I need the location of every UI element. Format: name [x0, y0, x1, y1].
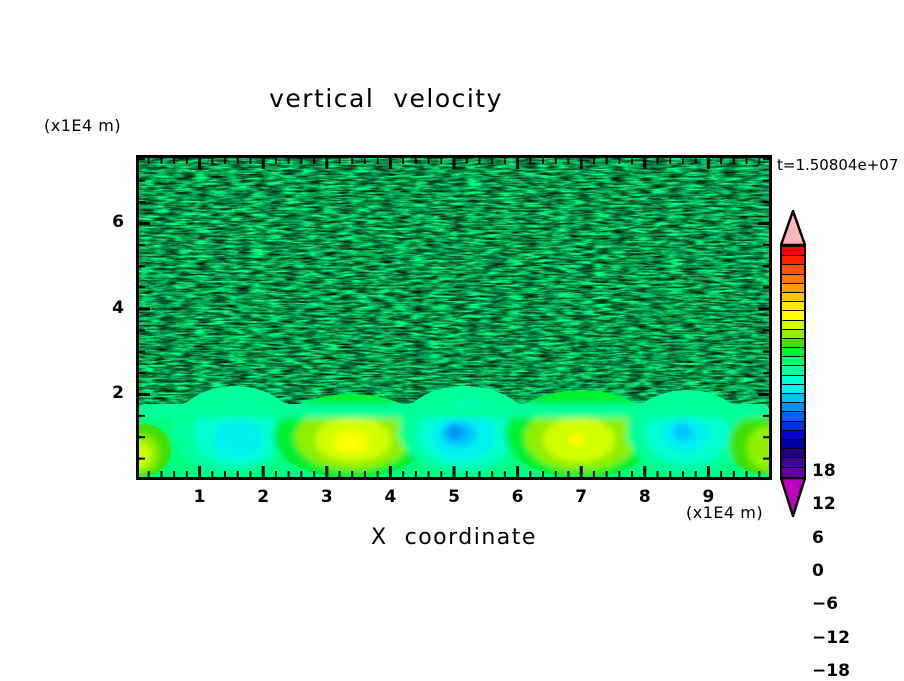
- colorbar-tick-label: −6: [812, 594, 838, 614]
- x-tick-label: 9: [695, 487, 721, 507]
- x-axis-label: X coordinate: [136, 525, 772, 550]
- colorbar-band: [782, 330, 804, 339]
- x-tick-label: 2: [250, 487, 276, 507]
- colorbar-band: [782, 357, 804, 366]
- colorbar-tick-label: 6: [812, 528, 824, 548]
- colorbar-band: [782, 293, 804, 302]
- colorbar-band: [782, 403, 804, 412]
- x-tick-label: 3: [314, 487, 340, 507]
- time-annotation: t=1.50804e+07: [777, 156, 898, 174]
- colorbar-band: [782, 458, 804, 467]
- x-tick-label: 1: [187, 487, 213, 507]
- y-tick-label: 6: [108, 212, 128, 232]
- colorbar-tick-label: 0: [812, 561, 824, 581]
- colorbar-band: [782, 376, 804, 385]
- colorbar-tick-label: −18: [812, 661, 850, 681]
- colorbar-band: [782, 440, 804, 449]
- vertical-velocity-field: [139, 158, 769, 477]
- chart-title: vertical velocity: [0, 84, 772, 113]
- colorbar-tick-label: 12: [812, 494, 836, 514]
- colorbar-tick-label: 18: [812, 461, 836, 481]
- colorbar-under-arrow: [780, 477, 806, 517]
- colorbar-band: [782, 311, 804, 320]
- colorbar-band: [782, 275, 804, 284]
- colorbar-band: [782, 412, 804, 421]
- colorbar[interactable]: 181260−6−12−18: [780, 210, 806, 513]
- x-tick-label: 5: [441, 487, 467, 507]
- x-tick-label: 6: [505, 487, 531, 507]
- colorbar-band: [782, 366, 804, 375]
- y-tick-label: 4: [108, 298, 128, 318]
- colorbar-over-arrow: [780, 210, 806, 246]
- x-tick-label: 7: [568, 487, 594, 507]
- y-axis-unit-label: (x1E4 m): [44, 116, 121, 135]
- x-tick-label: 8: [632, 487, 658, 507]
- colorbar-band: [782, 256, 804, 265]
- colorbar-band: [782, 394, 804, 403]
- colorbar-swatches: [780, 245, 806, 479]
- colorbar-band: [782, 468, 804, 477]
- colorbar-band: [782, 431, 804, 440]
- colorbar-band: [782, 302, 804, 311]
- colorbar-tick-label: −12: [812, 628, 850, 648]
- colorbar-band: [782, 265, 804, 274]
- convective-plumes: [139, 386, 769, 477]
- gravity-wave-striations: [139, 158, 769, 408]
- colorbar-band: [782, 385, 804, 394]
- colorbar-band: [782, 339, 804, 348]
- colorbar-band: [782, 284, 804, 293]
- colorbar-band: [782, 348, 804, 357]
- colorbar-band: [782, 247, 804, 256]
- y-tick-label: 2: [108, 383, 128, 403]
- colorbar-band: [782, 321, 804, 330]
- contour-plot-area: [136, 155, 772, 480]
- colorbar-band: [782, 422, 804, 431]
- colorbar-band: [782, 449, 804, 458]
- x-tick-label: 4: [377, 487, 403, 507]
- figure-canvas: vertical velocity (x1E4 m) t=1.50804e+07: [0, 0, 904, 654]
